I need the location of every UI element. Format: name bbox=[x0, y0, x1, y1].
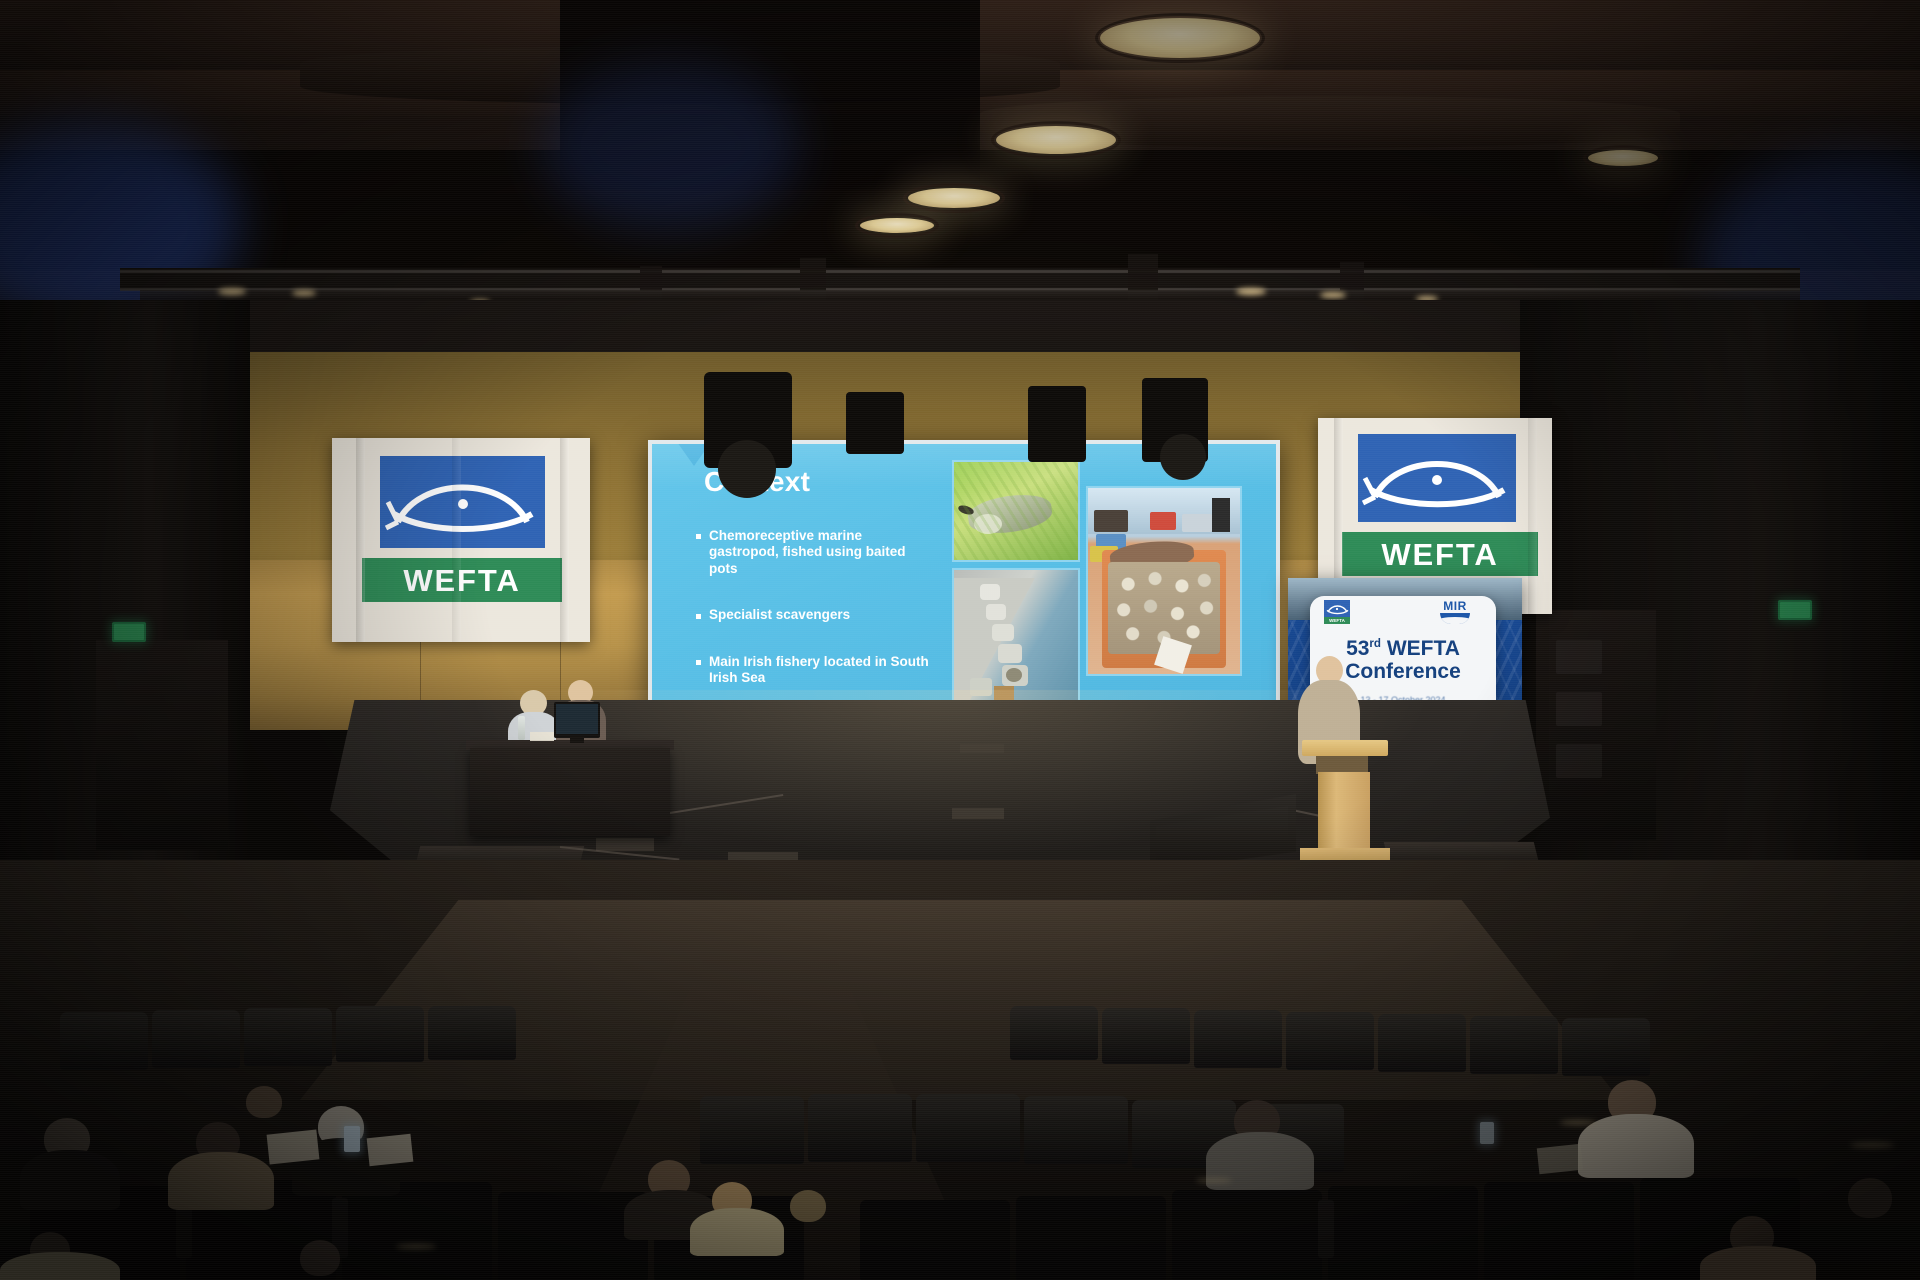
audience-member-head bbox=[300, 1240, 340, 1276]
stage-left-door bbox=[96, 640, 228, 850]
stage-floor-pocket bbox=[596, 838, 654, 851]
house-aisle-light bbox=[1850, 1142, 1894, 1148]
banner-logo-row: WEFTA MIR bbox=[1310, 596, 1496, 626]
lamp-warm-highlight bbox=[1320, 292, 1346, 298]
ceiling-downlight bbox=[860, 218, 934, 233]
audience-member-shoulders bbox=[168, 1152, 274, 1210]
ceiling-downlight bbox=[1588, 150, 1658, 166]
banner-title-line-2: Conference bbox=[1345, 661, 1461, 683]
house-aisle-light bbox=[1560, 1120, 1596, 1125]
water-bottle bbox=[518, 716, 525, 740]
audience-member-head bbox=[246, 1086, 282, 1118]
exit-sign-left bbox=[112, 622, 146, 642]
auditorium-seat bbox=[1172, 1190, 1322, 1280]
audience-member-shoulders bbox=[1700, 1246, 1816, 1280]
monitor-screen bbox=[556, 704, 598, 734]
audience-member-head bbox=[1848, 1178, 1892, 1218]
wefta-fish-icon bbox=[1358, 434, 1516, 522]
auditorium-seat bbox=[1194, 1010, 1282, 1068]
banner-mir-label: MIR bbox=[1440, 600, 1470, 612]
banner-wefta-blue bbox=[1324, 600, 1350, 617]
auditorium-seat bbox=[1562, 1018, 1650, 1076]
auditorium-seat bbox=[428, 1006, 516, 1060]
audience-member-shoulders bbox=[20, 1150, 120, 1210]
blue-accent-glow bbox=[540, 60, 800, 230]
flag-fold bbox=[356, 438, 365, 642]
auditorium-seat bbox=[1470, 1016, 1558, 1074]
auditorium-photo: WEFTA WEFTA Context bbox=[0, 0, 1920, 1280]
papers-on-table bbox=[530, 732, 554, 741]
audience-smartphone bbox=[344, 1126, 360, 1152]
auditorium-seat bbox=[1024, 1096, 1128, 1164]
wall-grille bbox=[1556, 640, 1602, 674]
slide-image-catch-in-orange-crate bbox=[1086, 486, 1242, 676]
wefta-flag-left: WEFTA bbox=[332, 438, 590, 642]
auditorium-seat bbox=[1328, 1186, 1478, 1280]
flag-fold bbox=[452, 438, 461, 642]
audience-notepad bbox=[367, 1134, 414, 1166]
flag-fold bbox=[1528, 418, 1537, 614]
audience-notepad bbox=[267, 1129, 320, 1164]
banner-ordinal: rd bbox=[1369, 638, 1381, 650]
lamp-warm-highlight bbox=[292, 290, 316, 296]
wefta-fish-icon bbox=[380, 456, 545, 548]
auditorium-seat bbox=[1016, 1196, 1166, 1280]
stage-floor-pocket bbox=[952, 808, 1004, 819]
auditorium-seat bbox=[860, 1200, 1010, 1280]
mir-wave-icon bbox=[1440, 613, 1470, 624]
ceiling-downlight bbox=[996, 126, 1116, 154]
auditorium-seat bbox=[700, 1096, 804, 1164]
exit-sign-face bbox=[1780, 602, 1810, 618]
stage-lamp-foreground bbox=[846, 392, 904, 454]
exit-sign-face bbox=[114, 624, 144, 640]
audience-member-shoulders bbox=[690, 1208, 784, 1256]
auditorium-seat bbox=[1378, 1014, 1466, 1072]
stage-lamp-foreground bbox=[1028, 386, 1086, 462]
slide-image-baited-pots-on-quay bbox=[952, 568, 1080, 706]
wefta-flag-label: WEFTA bbox=[403, 565, 520, 596]
audience-smartphone bbox=[1480, 1122, 1494, 1144]
auditorium-seat bbox=[1286, 1012, 1374, 1070]
truss-chord bbox=[120, 270, 1800, 273]
audience-member-head bbox=[790, 1190, 826, 1222]
confidence-monitor bbox=[554, 702, 600, 738]
auditorium-seat bbox=[916, 1094, 1020, 1162]
stage-floor-pocket bbox=[960, 744, 1004, 753]
auditorium-seat bbox=[152, 1010, 240, 1068]
podium-column bbox=[1318, 772, 1370, 854]
auditorium-seat bbox=[244, 1008, 332, 1066]
auditorium-seat bbox=[336, 1006, 424, 1062]
banner-title-line-1: 53rd WEFTA bbox=[1346, 638, 1460, 660]
slide-bullet: Specialist scavengers bbox=[694, 607, 934, 623]
wefta-fish-icon bbox=[1324, 600, 1350, 617]
wefta-logo-blue-panel bbox=[1358, 434, 1516, 522]
monitor-stand bbox=[570, 736, 584, 743]
audience-member-shoulders bbox=[0, 1252, 120, 1280]
ceiling-downlight bbox=[1100, 18, 1260, 58]
auditorium-seat bbox=[342, 1182, 492, 1280]
rig-cable-tray bbox=[140, 290, 1800, 300]
wefta-logo-green-band: WEFTA bbox=[362, 558, 562, 602]
auditorium-seat bbox=[1484, 1182, 1634, 1280]
flag-fold bbox=[560, 438, 569, 642]
banner-wefta-label: WEFTA bbox=[1324, 617, 1350, 624]
house-aisle-light bbox=[1196, 1178, 1232, 1183]
banner-wefta-logo: WEFTA bbox=[1324, 600, 1350, 624]
wall-grille bbox=[1556, 692, 1602, 726]
stage-lamp-lens bbox=[1160, 434, 1206, 480]
stage-lamp-lens bbox=[718, 440, 776, 498]
ceiling-downlight bbox=[908, 188, 1000, 208]
exit-sign-right bbox=[1778, 600, 1812, 620]
house-aisle-light bbox=[396, 1244, 436, 1249]
wefta-logo-green-band: WEFTA bbox=[1342, 532, 1538, 576]
slide-image-gastropod-on-seaweed bbox=[952, 460, 1080, 562]
banner-mir-logo: MIR bbox=[1440, 600, 1470, 624]
seat-armrest bbox=[1318, 1200, 1334, 1258]
wefta-flag-label: WEFTA bbox=[1381, 539, 1498, 570]
auditorium-seat bbox=[808, 1094, 912, 1162]
stage-step bbox=[1384, 842, 1538, 860]
lamp-warm-highlight bbox=[1236, 288, 1266, 295]
auditorium-seat bbox=[60, 1012, 148, 1070]
slide-bullet-list: Chemoreceptive marine gastropod, fished … bbox=[694, 528, 934, 705]
wefta-logo-blue-panel bbox=[380, 456, 545, 548]
wall-grille bbox=[1556, 744, 1602, 778]
podium-lectern-top bbox=[1302, 740, 1388, 756]
audience-notepad bbox=[1537, 1144, 1583, 1174]
slide-bullet: Main Irish fishery located in South Iris… bbox=[694, 654, 934, 687]
chairs-table bbox=[470, 748, 670, 836]
lamp-warm-highlight bbox=[218, 288, 246, 295]
auditorium-seat bbox=[1010, 1006, 1098, 1060]
slide-bullet: Chemoreceptive marine gastropod, fished … bbox=[694, 528, 934, 577]
auditorium-seat bbox=[1102, 1008, 1190, 1064]
banner-org: WEFTA bbox=[1387, 637, 1460, 660]
audience-member-shoulders bbox=[1578, 1114, 1694, 1178]
